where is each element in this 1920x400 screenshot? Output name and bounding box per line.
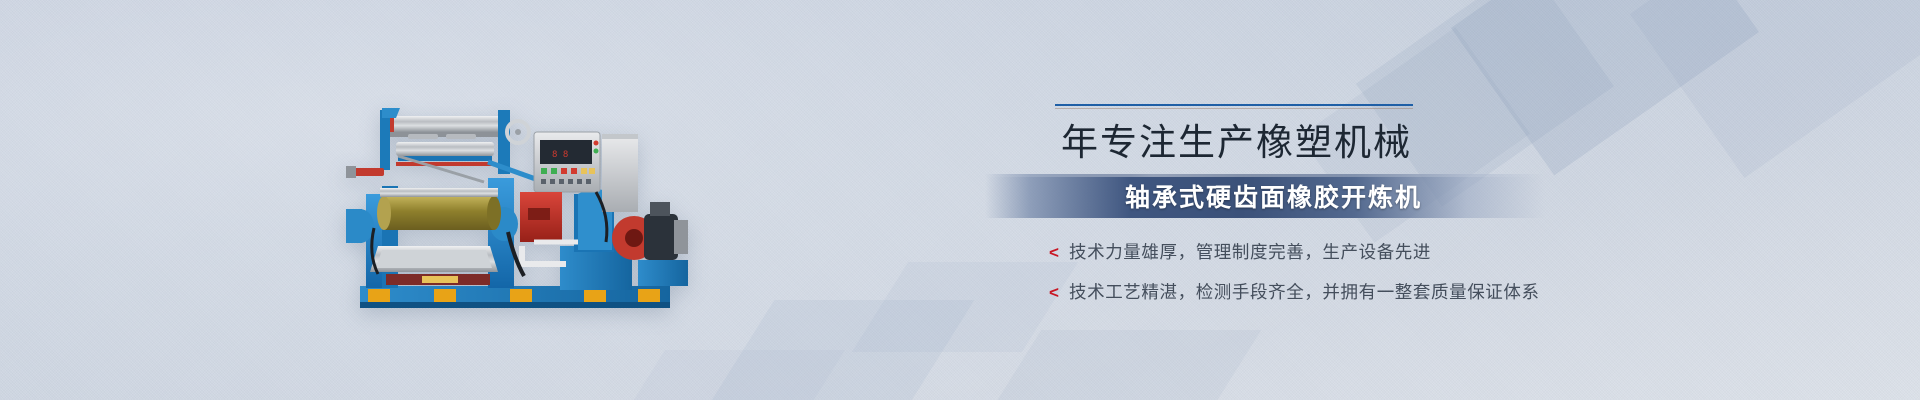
product-image-open-mixing-mill: 8 8 (338, 96, 690, 318)
chevron-left-icon: < (1049, 283, 1069, 303)
decorative-polygon-7 (979, 330, 1261, 400)
feature-list-item: < 技术力量雄厚，管理制度完善，生产设备先进 (1049, 239, 1540, 264)
decorative-polygon-8 (615, 350, 845, 400)
heading-rule-blue (1055, 104, 1413, 106)
product-title-bar: 轴承式硬齿面橡胶开炼机 (985, 174, 1545, 218)
hero-banner: 8 8 (0, 0, 1920, 400)
feature-list-item: < 技术工艺精湛，检测手段齐全，并拥有一整套质量保证体系 (1049, 279, 1540, 304)
svg-text:8 8: 8 8 (552, 150, 568, 160)
feature-list: < 技术力量雄厚，管理制度完善，生产设备先进 < 技术工艺精湛，检测手段齐全，并… (1049, 239, 1540, 319)
background-texture (0, 0, 1920, 400)
decorative-polygon-6 (852, 262, 1078, 352)
decorative-polygon-5 (706, 300, 975, 400)
chevron-left-icon: < (1049, 243, 1069, 263)
background-vignette (0, 0, 1920, 400)
banner-copy: 年专注生产橡塑机械 轴承式硬齿面橡胶开炼机 < 技术力量雄厚，管理制度完善，生产… (1055, 104, 1695, 165)
feature-text: 技术工艺精湛，检测手段齐全，并拥有一整套质量保证体系 (1069, 279, 1540, 304)
product-title: 轴承式硬齿面橡胶开炼机 (1125, 178, 1422, 214)
banner-headline: 年专注生产橡塑机械 (1055, 123, 1695, 165)
feature-text: 技术力量雄厚，管理制度完善，生产设备先进 (1069, 239, 1431, 264)
heading-rule-tan (1055, 108, 1413, 109)
product-title-bar-highlight (985, 174, 1545, 177)
